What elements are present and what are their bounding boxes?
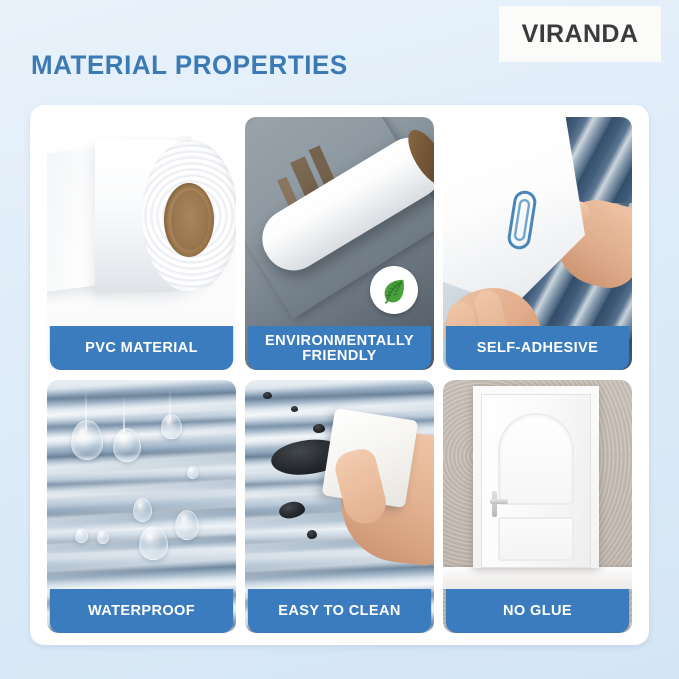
feature-label-waterproof: WATERPROOF [50, 589, 233, 633]
water-droplet [187, 466, 198, 479]
pvc-roll-core-inner-shape [171, 190, 209, 250]
brand-logo-box: VIRANDA [499, 6, 661, 62]
leaf-icon [379, 275, 409, 305]
water-droplet [97, 530, 109, 544]
door-frame-shape [473, 386, 599, 568]
feature-label-no-glue: NO GLUE [446, 589, 629, 633]
door-panel-bottom-shape [498, 517, 574, 561]
features-grid: PVC MATERIAL [47, 117, 632, 633]
stain-mark [313, 424, 325, 433]
water-droplet [139, 526, 168, 560]
feature-card-self-adhesive[interactable]: SELF-ADHESIVE [443, 117, 632, 370]
feature-label-easy-to-clean: EASY TO CLEAN [248, 589, 431, 633]
feature-label-environmentally-friendly: ENVIRONMENTALLY FRIENDLY [248, 326, 431, 370]
water-droplet [161, 414, 182, 439]
feature-card-environmentally-friendly[interactable]: ENVIRONMENTALLY FRIENDLY [245, 117, 434, 370]
door-lock-plate-shape [492, 491, 497, 517]
eco-roll-end-shape [401, 124, 434, 191]
feature-card-pvc-material[interactable]: PVC MATERIAL [47, 117, 236, 370]
door-handle-shape [490, 499, 508, 504]
water-droplet [175, 510, 199, 540]
feature-label-self-adhesive: SELF-ADHESIVE [446, 326, 629, 370]
door-panel-top-shape [498, 413, 574, 505]
droplet-trail [123, 394, 125, 432]
features-panel: PVC MATERIAL [30, 105, 649, 645]
product-feature-infographic: VIRANDA MATERIAL PROPERTIES PVC MATERIAL [0, 0, 679, 679]
baseboard-shape [443, 567, 632, 589]
water-droplet [71, 420, 103, 460]
door-slab-shape [481, 394, 591, 568]
eco-badge [370, 266, 418, 314]
feature-card-waterproof[interactable]: WATERPROOF [47, 380, 236, 633]
stain-mark [263, 392, 272, 399]
water-droplet [75, 528, 88, 543]
water-droplet [133, 498, 152, 522]
stain-mark [307, 530, 317, 539]
stain-mark [291, 406, 298, 412]
brand-name: VIRANDA [522, 20, 639, 49]
feature-label-pvc-material: PVC MATERIAL [50, 326, 233, 370]
feature-card-no-glue[interactable]: NO GLUE [443, 380, 632, 633]
water-droplet [113, 428, 141, 462]
feature-card-easy-to-clean[interactable]: EASY TO CLEAN [245, 380, 434, 633]
page-title: MATERIAL PROPERTIES [31, 50, 348, 81]
